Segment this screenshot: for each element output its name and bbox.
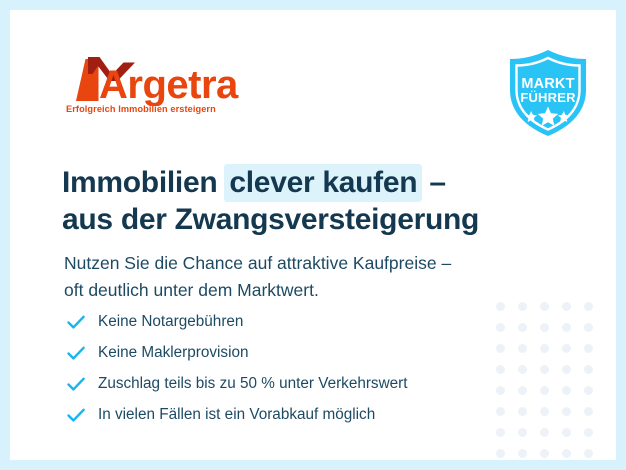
grid-dot [518, 386, 527, 395]
list-item: Zuschlag teils bis zu 50 % unter Verkehr… [66, 368, 506, 399]
grid-dot [584, 449, 593, 458]
grid-dot [518, 344, 527, 353]
checklist-label: Keine Notargebühren [98, 312, 243, 332]
page-title: Immobilien clever kaufen – aus der Zwang… [62, 164, 562, 238]
checklist-label: In vielen Fällen ist ein Vorabkauf mögli… [98, 405, 375, 425]
check-icon [66, 343, 86, 363]
grid-dot [584, 428, 593, 437]
grid-dot [584, 344, 593, 353]
grid-dot [518, 449, 527, 458]
dot-grid-decoration [496, 302, 606, 460]
grid-dot [584, 386, 593, 395]
argetra-logo[interactable]: Argetra Erfolgreich Immobilien ersteiger… [65, 54, 265, 124]
grid-dot [540, 365, 549, 374]
grid-dot [562, 407, 571, 416]
svg-text:FÜHRER: FÜHRER [520, 90, 576, 105]
grid-dot [562, 365, 571, 374]
checklist-label: Zuschlag teils bis zu 50 % unter Verkehr… [98, 374, 407, 394]
grid-dot [540, 386, 549, 395]
benefits-checklist: Keine Notargebühren Keine Maklerprovisio… [66, 306, 506, 430]
list-item: Keine Maklerprovision [66, 337, 506, 368]
grid-dot [496, 449, 505, 458]
banner-canvas: Argetra Erfolgreich Immobilien ersteiger… [10, 10, 616, 460]
headline-pre: Immobilien [62, 166, 225, 199]
subheadline: Nutzen Sie die Chance auf attraktive Kau… [64, 250, 564, 304]
headline-line-2: aus der Zwangsversteigerung [62, 201, 562, 238]
grid-dot [540, 449, 549, 458]
check-icon [66, 312, 86, 332]
subheadline-line-2: oft deutlich unter dem Marktwert. [64, 277, 564, 304]
grid-dot [518, 365, 527, 374]
promo-banner: Argetra Erfolgreich Immobilien ersteiger… [0, 0, 626, 470]
list-item: Keine Notargebühren [66, 306, 506, 337]
grid-dot [540, 323, 549, 332]
list-item: In vielen Fällen ist ein Vorabkauf mögli… [66, 399, 506, 430]
grid-dot [562, 449, 571, 458]
grid-dot [540, 407, 549, 416]
argetra-logo-mark: Argetra [65, 54, 261, 106]
grid-dot [562, 428, 571, 437]
grid-dot [584, 407, 593, 416]
headline-post: – [421, 166, 445, 199]
grid-dot [584, 365, 593, 374]
grid-dot [518, 428, 527, 437]
check-icon [66, 405, 86, 425]
logo-tagline: Erfolgreich Immobilien ersteigern [66, 104, 216, 114]
grid-dot [584, 302, 593, 311]
check-icon [66, 374, 86, 394]
grid-dot [540, 428, 549, 437]
headline-highlight: clever kaufen [224, 164, 422, 202]
checklist-label: Keine Maklerprovision [98, 343, 249, 363]
grid-dot [584, 323, 593, 332]
grid-dot [562, 323, 571, 332]
grid-dot [562, 344, 571, 353]
headline-line-1: Immobilien clever kaufen – [62, 164, 562, 201]
grid-dot [518, 323, 527, 332]
markt-fuehrer-badge: MARKT FÜHRER [504, 48, 592, 138]
subheadline-line-1: Nutzen Sie die Chance auf attraktive Kau… [64, 250, 564, 277]
grid-dot [518, 407, 527, 416]
grid-dot [562, 386, 571, 395]
grid-dot [540, 344, 549, 353]
svg-text:Argetra: Argetra [99, 63, 239, 106]
